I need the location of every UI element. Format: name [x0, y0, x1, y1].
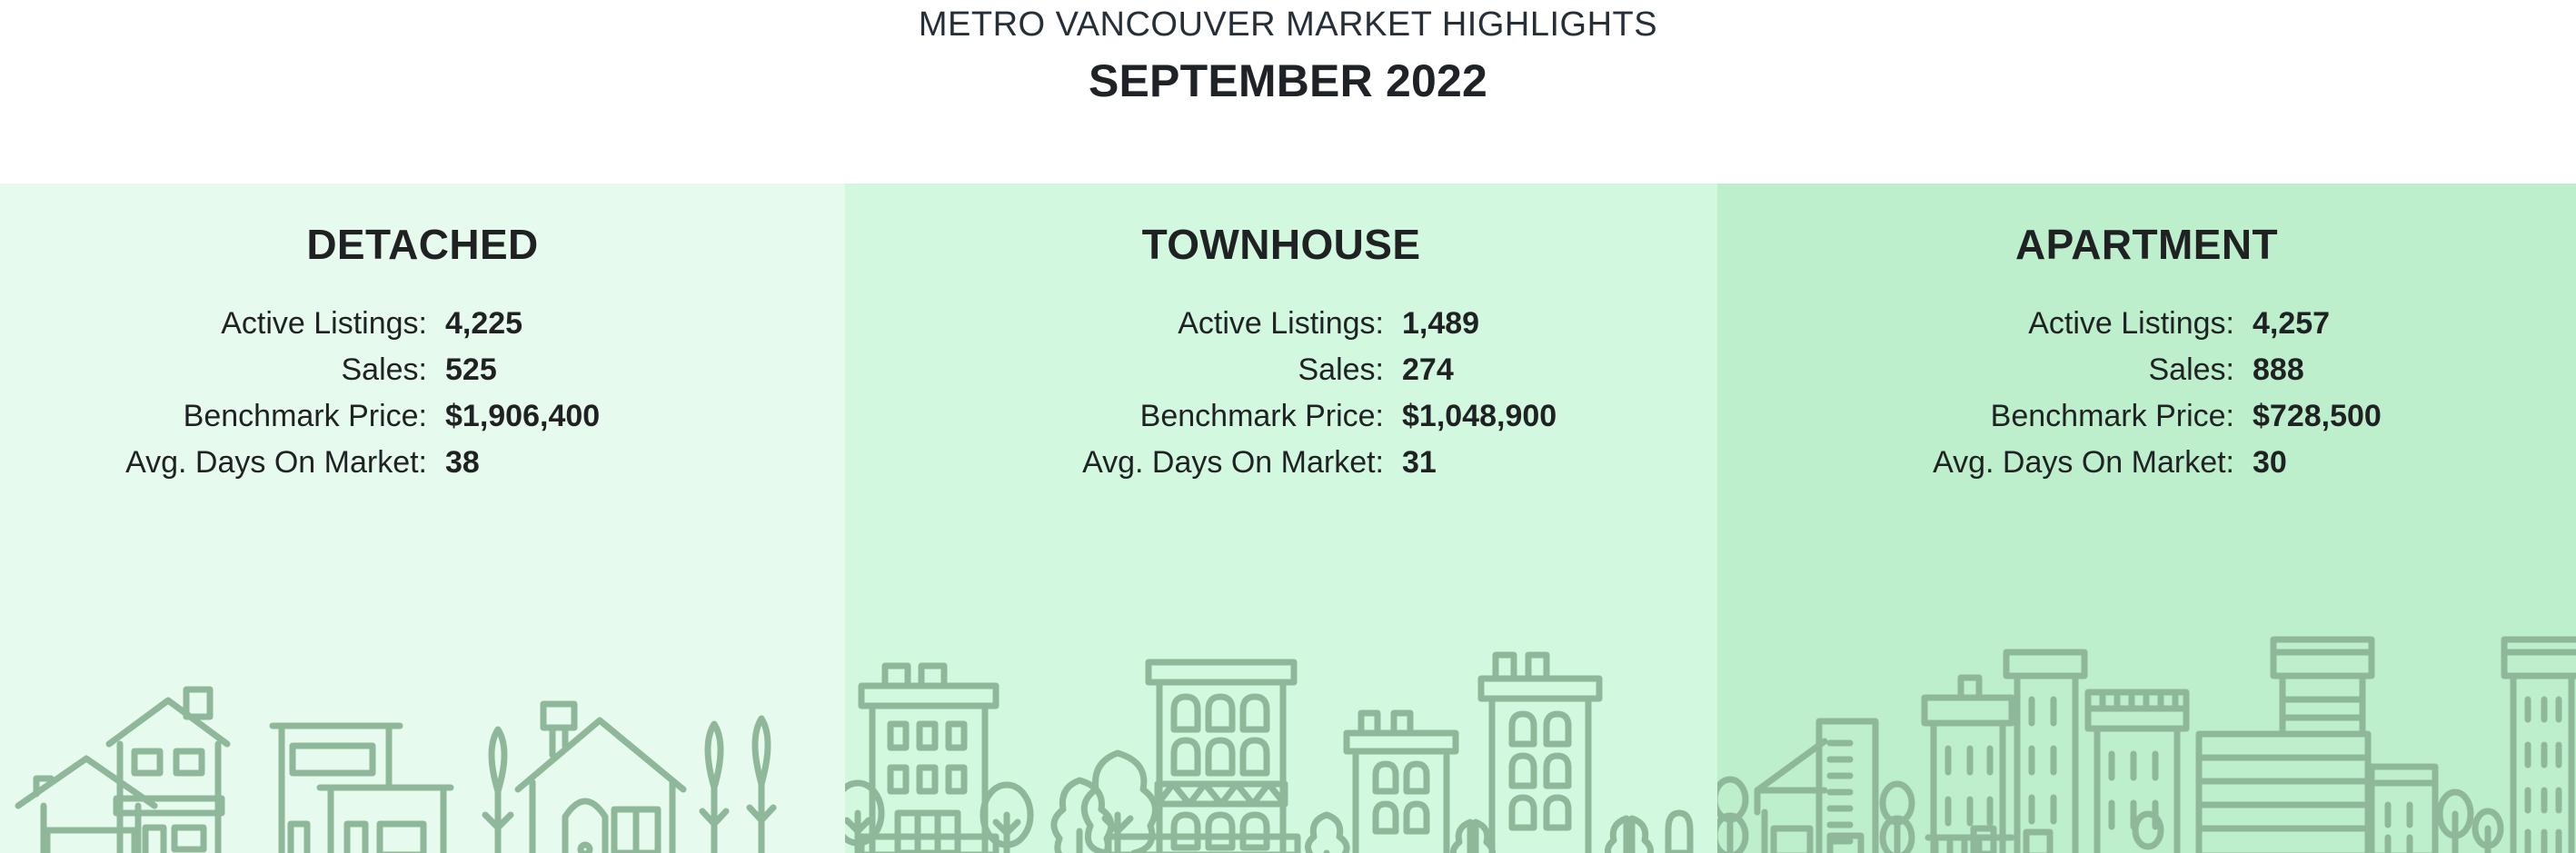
panel-apartment: APARTMENT Active Listings: 4,257 Sales: … — [1717, 183, 2576, 853]
apartment-skyline-illustration — [1717, 621, 2576, 853]
stat-label-benchmark-price: Benchmark Price: — [55, 401, 427, 431]
stat-label-avg-days-on-market: Avg. Days On Market: — [55, 447, 427, 478]
stat-value-active-listings: 4,257 — [2253, 308, 2330, 339]
stat-value-benchmark-price: $1,906,400 — [445, 401, 600, 431]
market-highlight-panels: DETACHED Active Listings: 4,225 Sales: 5… — [0, 183, 2576, 853]
stat-value-benchmark-price: $728,500 — [2253, 401, 2382, 431]
stat-value-benchmark-price: $1,048,900 — [1402, 401, 1557, 431]
stat-row: Active Listings: 1,489 — [998, 308, 1717, 339]
stat-row: Sales: 274 — [998, 354, 1717, 385]
header-subtitle: METRO VANCOUVER MARKET HIGHLIGHTS — [919, 7, 1657, 44]
stat-value-sales: 525 — [445, 354, 497, 385]
stat-value-active-listings: 1,489 — [1402, 308, 1479, 339]
stat-row: Sales: 888 — [1857, 354, 2576, 385]
stats-list-detached: Active Listings: 4,225 Sales: 525 Benchm… — [0, 308, 845, 478]
panel-detached: DETACHED Active Listings: 4,225 Sales: 5… — [0, 183, 845, 853]
page-header: METRO VANCOUVER MARKET HIGHLIGHTS SEPTEM… — [0, 0, 2576, 183]
stats-list-townhouse: Active Listings: 1,489 Sales: 274 Benchm… — [845, 308, 1717, 478]
stat-value-avg-days-on-market: 30 — [2253, 447, 2287, 478]
stat-row: Avg. Days On Market: 30 — [1857, 447, 2576, 478]
stat-row: Benchmark Price: $1,906,400 — [55, 401, 845, 431]
stat-label-sales: Sales: — [1857, 354, 2234, 385]
detached-houses-illustration — [0, 671, 845, 853]
panel-title-detached: DETACHED — [0, 223, 845, 265]
stat-label-active-listings: Active Listings: — [55, 308, 427, 339]
stat-row: Active Listings: 4,225 — [55, 308, 845, 339]
stat-row: Avg. Days On Market: 38 — [55, 447, 845, 478]
panel-title-apartment: APARTMENT — [1717, 223, 2576, 265]
stat-label-avg-days-on-market: Avg. Days On Market: — [1857, 447, 2234, 478]
stats-list-apartment: Active Listings: 4,257 Sales: 888 Benchm… — [1717, 308, 2576, 478]
stat-value-sales: 888 — [2253, 354, 2304, 385]
stat-row: Active Listings: 4,257 — [1857, 308, 2576, 339]
panel-townhouse: TOWNHOUSE Active Listings: 1,489 Sales: … — [845, 183, 1717, 853]
panel-title-townhouse: TOWNHOUSE — [845, 223, 1717, 265]
stat-value-avg-days-on-market: 31 — [1402, 447, 1437, 478]
stat-value-avg-days-on-market: 38 — [445, 447, 480, 478]
stat-value-active-listings: 4,225 — [445, 308, 522, 339]
stat-label-benchmark-price: Benchmark Price: — [998, 401, 1384, 431]
stat-label-sales: Sales: — [998, 354, 1384, 385]
stat-label-benchmark-price: Benchmark Price: — [1857, 401, 2234, 431]
stat-value-sales: 274 — [1402, 354, 1454, 385]
stat-row: Benchmark Price: $1,048,900 — [998, 401, 1717, 431]
stat-row: Avg. Days On Market: 31 — [998, 447, 1717, 478]
stat-row: Sales: 525 — [55, 354, 845, 385]
townhouse-midrise-illustration — [845, 635, 1717, 853]
stat-label-avg-days-on-market: Avg. Days On Market: — [998, 447, 1384, 478]
stat-label-active-listings: Active Listings: — [998, 308, 1384, 339]
stat-label-sales: Sales: — [55, 354, 427, 385]
stat-row: Benchmark Price: $728,500 — [1857, 401, 2576, 431]
stat-label-active-listings: Active Listings: — [1857, 308, 2234, 339]
page-title: SEPTEMBER 2022 — [1089, 53, 1487, 110]
